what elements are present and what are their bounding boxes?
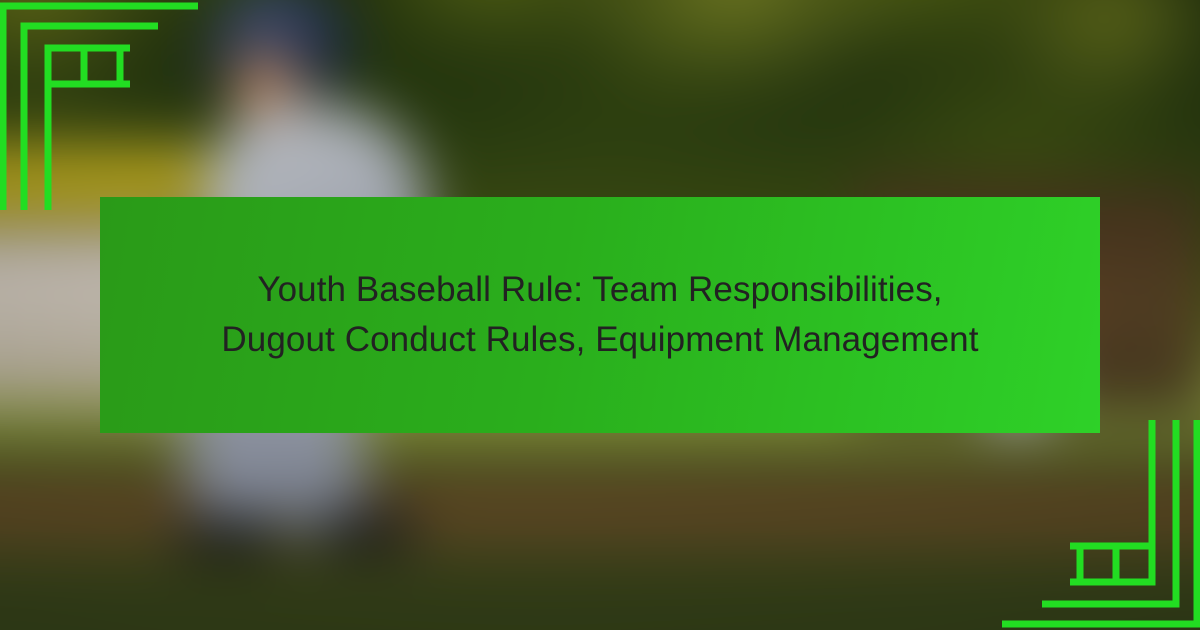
social-share-card: Youth Baseball Rule: Team Responsibiliti… bbox=[0, 0, 1200, 630]
title-banner: Youth Baseball Rule: Team Responsibiliti… bbox=[100, 197, 1100, 433]
page-title: Youth Baseball Rule: Team Responsibiliti… bbox=[200, 265, 1000, 365]
